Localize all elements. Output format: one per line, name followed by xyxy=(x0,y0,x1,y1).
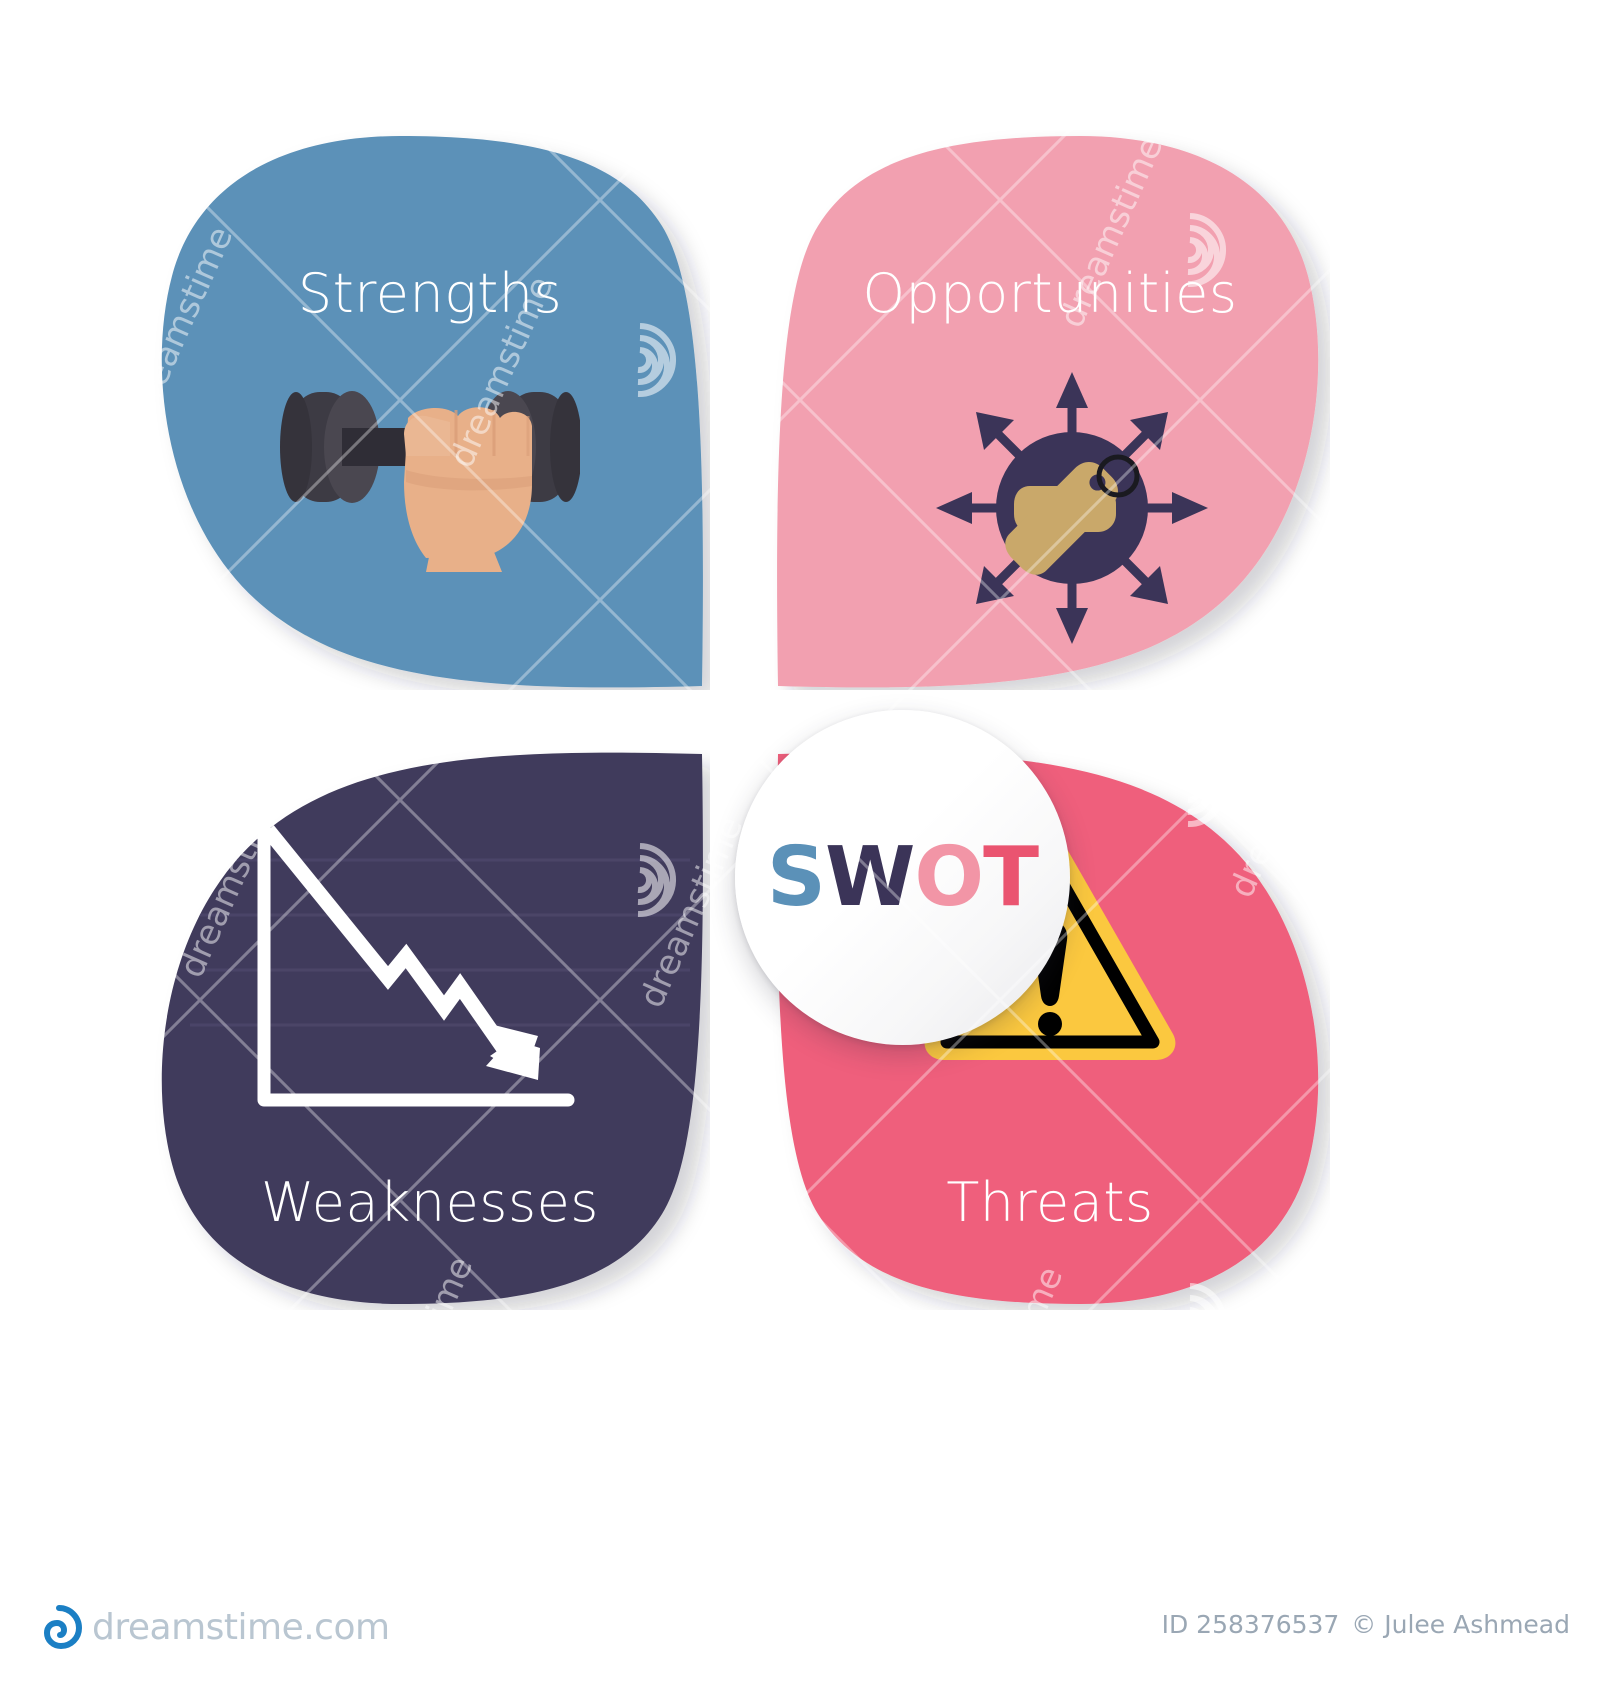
swot-diagram-page: Strengths xyxy=(0,0,1600,1690)
quadrant-weaknesses[interactable]: Weaknesses xyxy=(150,750,710,1310)
swot-letter-w: W xyxy=(825,837,914,919)
swot-center-circle[interactable]: S W O T xyxy=(735,710,1070,1045)
footer-credit: ID 258376537 © Julee Ashmead xyxy=(1162,1610,1570,1639)
swot-wordmark: S W O T xyxy=(735,710,1070,1045)
swot-diagram: Strengths xyxy=(150,130,1330,1320)
dreamstime-logo[interactable]: dreamstime.com xyxy=(34,1604,390,1650)
copyright-text: © Julee Ashmead xyxy=(1351,1610,1570,1639)
swot-letter-t: T xyxy=(983,837,1038,919)
dumbbell-hand-icon xyxy=(280,352,580,572)
dreamstime-logo-text: dreamstime.com xyxy=(92,1607,390,1648)
declining-chart-icon xyxy=(238,808,578,1138)
dreamstime-logo-icon xyxy=(34,1604,84,1650)
price-tag-arrows-icon xyxy=(922,358,1222,658)
quadrant-opportunities[interactable]: Opportunities xyxy=(770,130,1330,690)
swot-letter-o: O xyxy=(914,837,983,919)
swot-letter-s: S xyxy=(767,837,825,919)
quadrant-strengths[interactable]: Strengths xyxy=(150,130,710,690)
image-id: ID 258376537 xyxy=(1162,1610,1340,1639)
footer-bar: dreamstime.com ID 258376537 © Julee Ashm… xyxy=(0,1580,1600,1690)
